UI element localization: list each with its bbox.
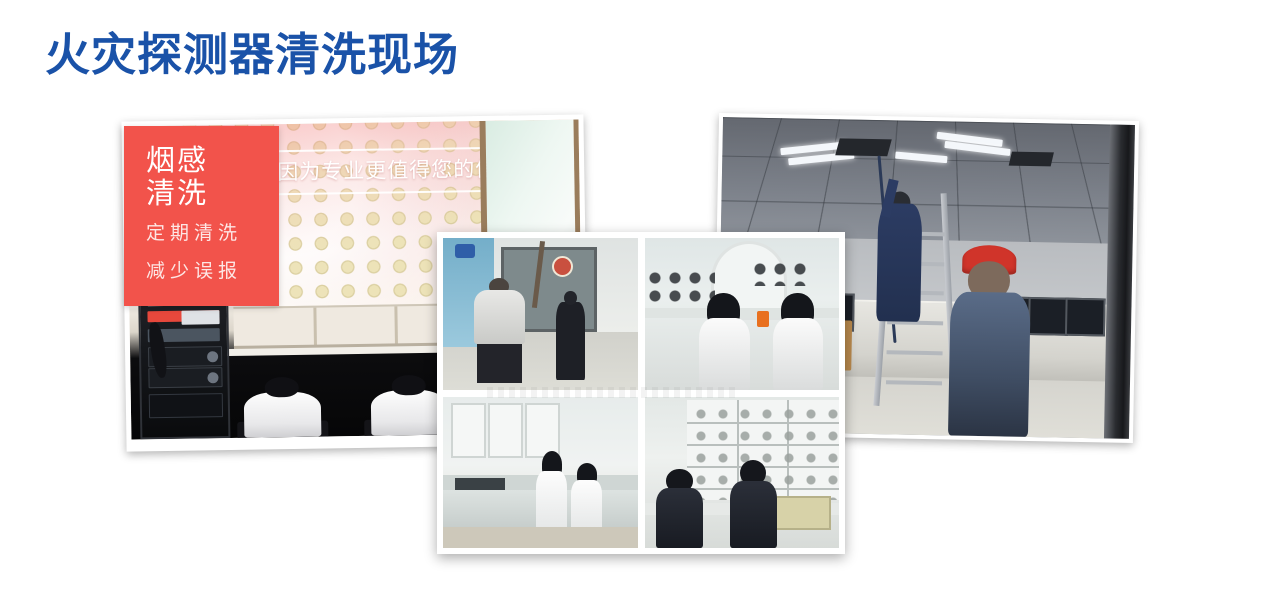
- door-frame: [1104, 125, 1135, 439]
- ladder-step-6: [886, 380, 942, 385]
- lab-worker-back: [571, 463, 602, 533]
- console-monitor-3: [1028, 297, 1069, 336]
- sink-basin: [455, 478, 506, 490]
- head: [265, 376, 299, 397]
- trousers: [477, 344, 522, 383]
- ladder-step-5: [886, 350, 942, 355]
- lab-worker-right: [773, 293, 824, 390]
- collage-cell-detector-shelving[interactable]: [645, 397, 840, 549]
- page-title: 火灾探测器清洗现场: [45, 28, 459, 82]
- shirt: [474, 290, 525, 344]
- test-instrument: [773, 496, 831, 530]
- photo-collage[interactable]: [437, 232, 845, 554]
- lab-coat: [244, 392, 322, 438]
- console-monitor-4: [1065, 298, 1106, 337]
- inspector-foreground: [474, 290, 525, 384]
- air-vent-1: [836, 138, 893, 156]
- page-canvas: 火灾探测器清洗现场 因为专业更值得您的信赖: [0, 0, 1280, 615]
- rack-knob-1: [207, 351, 218, 362]
- wall-cabinet-3: [525, 403, 560, 459]
- detector-tray-right: [753, 262, 807, 286]
- promo-line-2: 清洗: [146, 177, 279, 210]
- technician-left: [243, 376, 321, 438]
- technician-right: [730, 460, 777, 548]
- rack-module-3: [149, 393, 223, 418]
- wall-cabinet-2: [488, 403, 523, 459]
- rack-label-strip: [182, 310, 220, 325]
- promo-line-1: 烟感: [146, 144, 279, 177]
- dark-uniform: [730, 481, 777, 548]
- lab-worker-front: [536, 451, 567, 533]
- head: [564, 291, 577, 305]
- promo-badge: 烟感 清洗 定期清洗 减少误报: [124, 126, 279, 306]
- promo-line-4: 减少误报: [146, 257, 279, 286]
- lab-worker-left: [699, 293, 750, 390]
- lab-coat: [773, 318, 824, 390]
- lab-coat: [536, 471, 567, 533]
- head: [392, 374, 426, 395]
- wall-emblem-icon: [552, 256, 573, 277]
- dark-uniform: [656, 488, 703, 548]
- air-vent-2: [1009, 151, 1054, 166]
- worker-on-ladder: [876, 177, 923, 322]
- collage-cell-microscope-bench[interactable]: [645, 238, 840, 390]
- faint-watermark-strip: [487, 387, 740, 398]
- collage-cell-corridor-inspection[interactable]: [443, 238, 638, 390]
- wall-sign-icon: [455, 244, 475, 258]
- blue-work-uniform: [876, 203, 922, 322]
- lab-coat: [571, 480, 602, 533]
- collage-cell-fume-hood-lab[interactable]: [443, 397, 638, 549]
- blue-work-uniform: [948, 291, 1031, 437]
- lab-coat: [699, 318, 750, 390]
- wall-cabinet-1: [451, 403, 486, 459]
- promo-line-3: 定期清洗: [146, 219, 279, 248]
- supervisor-with-hard-hat: [948, 241, 1032, 437]
- floor-strip: [443, 527, 638, 548]
- tool-orange: [757, 311, 769, 327]
- technician-left: [656, 469, 703, 548]
- inspector-background: [556, 302, 585, 381]
